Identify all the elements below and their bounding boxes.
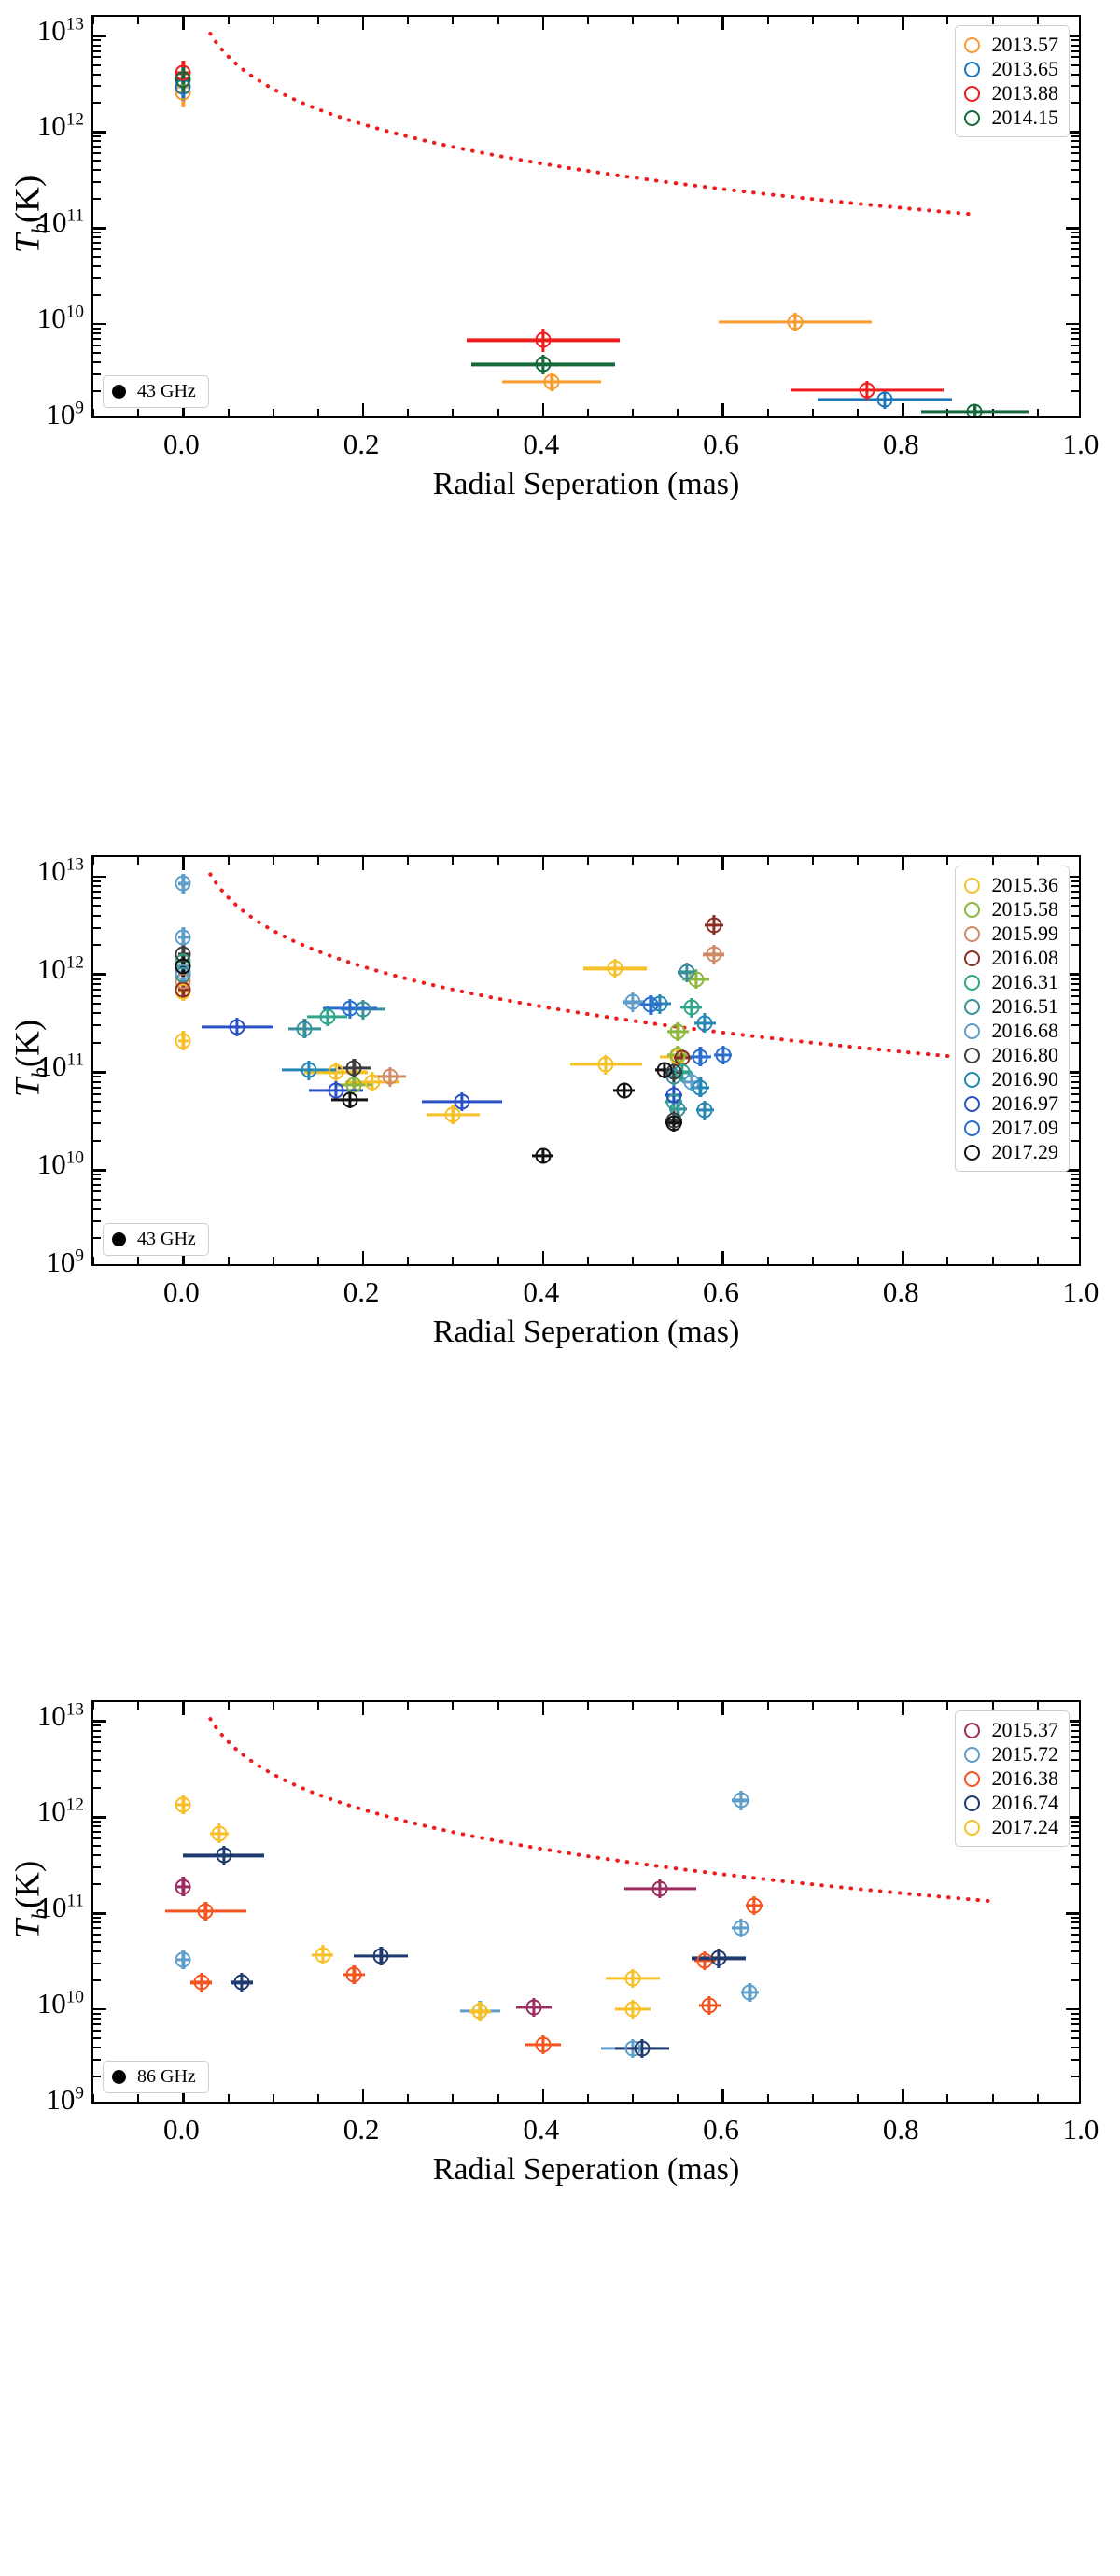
x-tick-label: 0.2	[315, 1275, 408, 1309]
x-minor-tick	[497, 409, 499, 416]
x-minor-tick	[946, 1702, 948, 1710]
x-minor-tick	[182, 17, 184, 24]
y-minor-tick	[1071, 181, 1079, 183]
legend-item[interactable]: 2016.90	[964, 1067, 1059, 1091]
y-minor-tick	[1071, 140, 1079, 142]
x-minor-tick	[992, 17, 994, 24]
y-minor-tick	[1071, 995, 1079, 997]
y-major-tick	[1066, 2008, 1079, 2011]
y-minor-tick	[93, 897, 101, 899]
y-minor-tick	[93, 978, 101, 980]
y-minor-tick	[93, 1140, 101, 1142]
y-minor-tick	[93, 332, 101, 334]
y-minor-tick	[1071, 2076, 1079, 2077]
y-minor-tick	[1071, 1024, 1079, 1026]
y-minor-tick	[93, 1917, 101, 1919]
x-minor-tick	[497, 1257, 499, 1264]
legend-item[interactable]: 2015.99	[964, 922, 1059, 946]
legend-item[interactable]: 2015.58	[964, 897, 1059, 922]
x-minor-tick	[632, 17, 634, 24]
legend-marker-icon	[964, 1072, 980, 1088]
data-point	[193, 1975, 209, 1991]
y-minor-tick	[93, 328, 101, 330]
x-minor-tick	[902, 1257, 903, 1264]
y-minor-tick	[1071, 1110, 1079, 1112]
y-major-tick	[93, 1720, 106, 1723]
y-minor-tick	[93, 1122, 101, 1124]
data-point	[356, 1002, 371, 1018]
y-axis-label: Tb(K)	[8, 121, 49, 308]
x-minor-tick	[857, 409, 859, 416]
data-point	[643, 997, 659, 1013]
data-point	[693, 1079, 708, 1095]
y-minor-tick	[1071, 897, 1079, 899]
data-point	[652, 1881, 668, 1897]
data-point	[967, 404, 983, 416]
y-minor-tick	[1071, 198, 1079, 200]
x-minor-tick	[767, 857, 769, 865]
legend-item[interactable]: 2015.72	[964, 1742, 1059, 1767]
y-tick-label: 109	[11, 398, 84, 431]
legend-label: 2013.65	[992, 57, 1059, 81]
fit-curve	[93, 1702, 1079, 2102]
y-minor-tick	[1071, 135, 1079, 137]
legend-label: 2015.58	[992, 897, 1059, 922]
y-minor-tick	[93, 1825, 101, 1827]
x-minor-tick	[722, 409, 724, 416]
data-point	[625, 1971, 641, 1987]
legend-marker-icon	[964, 1096, 980, 1112]
x-minor-tick	[677, 17, 679, 24]
y-minor-tick	[93, 1024, 101, 1026]
x-minor-tick	[362, 409, 364, 416]
x-minor-tick	[407, 1702, 409, 1710]
data-point	[859, 382, 875, 398]
x-minor-tick	[812, 17, 814, 24]
x-minor-tick	[452, 1702, 454, 1710]
x-minor-tick	[407, 1257, 409, 1264]
legend-item[interactable]: 2013.65	[964, 57, 1059, 81]
x-minor-tick	[273, 17, 274, 24]
x-minor-tick	[1037, 1257, 1039, 1264]
x-minor-tick	[228, 409, 230, 416]
y-minor-tick	[93, 232, 101, 233]
data-point	[175, 72, 191, 88]
x-minor-tick	[497, 17, 499, 24]
plot-frame: 2013.572013.652013.882014.1543 GHz	[91, 15, 1081, 418]
x-minor-tick	[182, 409, 184, 416]
y-minor-tick	[93, 891, 101, 893]
y-minor-tick	[1071, 50, 1079, 52]
y-minor-tick	[1071, 2059, 1079, 2061]
y-minor-tick	[93, 1837, 101, 1839]
y-minor-tick	[1071, 1837, 1079, 1839]
x-minor-tick	[542, 1257, 544, 1264]
y-minor-tick	[1071, 1759, 1079, 1761]
x-minor-tick	[362, 1702, 364, 1710]
legend-marker-icon	[964, 1723, 980, 1738]
x-minor-tick	[722, 2094, 724, 2102]
legend-label: 2017.09	[992, 1116, 1059, 1140]
y-minor-tick	[93, 1730, 101, 1732]
frequency-label: 43 GHz	[137, 381, 196, 402]
y-minor-tick	[93, 1081, 101, 1083]
legend-label: 2016.74	[992, 1791, 1059, 1815]
x-minor-tick	[452, 2094, 454, 2102]
y-minor-tick	[93, 2047, 101, 2048]
y-minor-tick	[1071, 1174, 1079, 1175]
y-minor-tick	[93, 160, 101, 162]
x-tick-label: 0.2	[315, 428, 408, 461]
y-minor-tick	[1071, 885, 1079, 887]
y-minor-tick	[1071, 236, 1079, 238]
legend-marker-icon	[964, 1795, 980, 1811]
legend-item[interactable]: 2016.38	[964, 1767, 1059, 1791]
legend-item[interactable]: 2016.08	[964, 946, 1059, 970]
y-minor-tick	[1071, 352, 1079, 354]
plot-area: 2015.372015.722016.382016.742017.2486 GH…	[93, 1702, 1079, 2102]
x-minor-tick	[228, 1257, 230, 1264]
y-minor-tick	[1071, 905, 1079, 907]
x-tick-label: 0.4	[495, 1275, 588, 1309]
y-minor-tick	[1071, 64, 1079, 66]
y-minor-tick	[93, 1220, 101, 1222]
legend: 2015.362015.582015.992016.082016.312016.…	[955, 866, 1071, 1172]
y-minor-tick	[1071, 1076, 1079, 1077]
x-minor-tick	[767, 1702, 769, 1710]
y-minor-tick	[1071, 1012, 1079, 1014]
panel-2: 2015.362015.582015.992016.082016.312016.…	[0, 840, 1120, 1685]
x-minor-tick	[587, 17, 589, 24]
y-minor-tick	[93, 1012, 101, 1014]
data-point	[230, 1020, 245, 1035]
x-minor-tick	[317, 1702, 319, 1710]
y-minor-tick	[93, 265, 101, 267]
y-minor-tick	[93, 1178, 101, 1180]
data-point	[877, 391, 893, 407]
data-point	[747, 1898, 763, 1914]
y-minor-tick	[1071, 1883, 1079, 1885]
data-point	[702, 1997, 718, 2013]
y-minor-tick	[1071, 1087, 1079, 1089]
x-minor-tick	[1037, 2094, 1039, 2102]
y-minor-tick	[1071, 2047, 1079, 2048]
y-minor-tick	[93, 1110, 101, 1112]
x-minor-tick	[902, 17, 903, 24]
y-minor-tick	[93, 1174, 101, 1175]
x-minor-tick	[587, 1257, 589, 1264]
frequency-badge: 86 GHz	[103, 2061, 209, 2093]
x-minor-tick	[902, 857, 903, 865]
x-minor-tick	[362, 857, 364, 865]
legend-item[interactable]: 2017.09	[964, 1116, 1059, 1140]
y-minor-tick	[93, 294, 101, 296]
data-point	[787, 314, 803, 330]
y-minor-tick	[93, 1979, 101, 1981]
x-minor-tick	[407, 857, 409, 865]
panel-3: 2015.372015.722016.382016.742017.2486 GH…	[0, 1685, 1120, 2526]
x-minor-tick	[1037, 1702, 1039, 1710]
y-minor-tick	[1071, 927, 1079, 929]
x-minor-tick	[182, 1702, 184, 1710]
data-point	[616, 1083, 632, 1099]
y-minor-tick	[1071, 74, 1079, 76]
data-point	[234, 1975, 250, 1991]
x-minor-tick	[317, 857, 319, 865]
legend-item[interactable]: 2013.88	[964, 81, 1059, 106]
legend-item[interactable]: 2014.15	[964, 106, 1059, 130]
y-tick-label: 1013	[11, 854, 84, 888]
legend-label: 2015.37	[992, 1718, 1059, 1742]
data-point	[455, 1094, 470, 1110]
y-tick-label: 1010	[11, 1147, 84, 1181]
y-minor-tick	[1071, 2037, 1079, 2039]
y-minor-tick	[93, 277, 101, 279]
y-minor-tick	[93, 2030, 101, 2032]
y-minor-tick	[1071, 1081, 1079, 1083]
y-minor-tick	[93, 1759, 101, 1761]
legend-label: 2016.80	[992, 1043, 1059, 1067]
y-minor-tick	[1071, 1787, 1079, 1789]
legend-marker-icon	[964, 86, 980, 102]
y-minor-tick	[1071, 256, 1079, 258]
y-minor-tick	[1071, 361, 1079, 363]
y-minor-tick	[1071, 1741, 1079, 1743]
x-minor-tick	[93, 2094, 94, 2102]
x-tick-label: 0.0	[134, 1275, 228, 1309]
x-minor-tick	[228, 857, 230, 865]
x-minor-tick	[767, 409, 769, 416]
y-minor-tick	[1071, 1042, 1079, 1044]
y-major-tick	[93, 1169, 106, 1172]
x-minor-tick	[767, 2094, 769, 2102]
y-minor-tick	[93, 45, 101, 47]
y-minor-tick	[1071, 1927, 1079, 1929]
legend-label: 2014.15	[992, 106, 1059, 130]
data-point	[693, 1049, 708, 1064]
y-minor-tick	[1071, 248, 1079, 250]
y-minor-tick	[1071, 978, 1079, 980]
legend-marker-icon	[964, 62, 980, 77]
legend-item[interactable]: 2013.57	[964, 33, 1059, 57]
y-minor-tick	[93, 2018, 101, 2020]
y-minor-tick	[93, 2037, 101, 2039]
y-minor-tick	[1071, 1831, 1079, 1833]
y-minor-tick	[93, 983, 101, 985]
x-minor-tick	[677, 857, 679, 865]
y-minor-tick	[1071, 1208, 1079, 1210]
data-point	[535, 357, 551, 373]
y-minor-tick	[93, 1076, 101, 1077]
legend-label: 2016.68	[992, 1019, 1059, 1043]
legend-label: 2015.99	[992, 922, 1059, 946]
data-point	[346, 1077, 362, 1092]
legend: 2015.372015.722016.382016.742017.24	[955, 1710, 1071, 1847]
x-minor-tick	[992, 2094, 994, 2102]
y-tick-label: 1013	[11, 1699, 84, 1733]
y-minor-tick	[1071, 1122, 1079, 1124]
data-point	[383, 1069, 399, 1085]
x-minor-tick	[632, 2094, 634, 2102]
legend-item[interactable]: 2015.36	[964, 873, 1059, 897]
x-minor-tick	[228, 1702, 230, 1710]
x-minor-tick	[587, 409, 589, 416]
y-minor-tick	[93, 1941, 101, 1943]
y-tick-label: 109	[11, 2083, 84, 2117]
x-minor-tick	[407, 409, 409, 416]
y-minor-tick	[1071, 1917, 1079, 1919]
data-point	[301, 1063, 317, 1078]
data-point	[346, 1966, 362, 1982]
x-minor-tick	[497, 1702, 499, 1710]
x-minor-tick	[632, 1257, 634, 1264]
data-point	[175, 1033, 191, 1049]
x-minor-tick	[946, 1257, 948, 1264]
y-minor-tick	[93, 373, 101, 375]
y-minor-tick	[93, 1921, 101, 1923]
legend-item[interactable]: 2017.24	[964, 1815, 1059, 1839]
y-minor-tick	[93, 152, 101, 154]
y-minor-tick	[1071, 1750, 1079, 1752]
fit-curve	[93, 17, 1079, 416]
legend-label: 2016.97	[992, 1091, 1059, 1116]
y-minor-tick	[93, 169, 101, 171]
y-minor-tick	[93, 1190, 101, 1192]
y-minor-tick	[93, 248, 101, 250]
data-point	[710, 1950, 726, 1966]
x-minor-tick	[182, 857, 184, 865]
x-axis-label: Radial Seperation (mas)	[91, 467, 1081, 502]
x-minor-tick	[273, 857, 274, 865]
data-point	[175, 929, 191, 945]
legend-item[interactable]: 2016.80	[964, 1043, 1059, 1067]
x-minor-tick	[137, 1702, 139, 1710]
y-minor-tick	[1071, 880, 1079, 882]
x-minor-tick	[317, 1257, 319, 1264]
y-minor-tick	[93, 1866, 101, 1868]
data-point	[297, 1021, 313, 1036]
x-minor-tick	[857, 1257, 859, 1264]
data-point	[598, 1057, 614, 1073]
x-minor-tick	[812, 1257, 814, 1264]
x-minor-tick	[182, 2094, 184, 2102]
y-minor-tick	[1071, 56, 1079, 58]
x-minor-tick	[542, 857, 544, 865]
legend-marker-icon	[964, 975, 980, 991]
y-minor-tick	[1071, 1736, 1079, 1738]
y-minor-tick	[1071, 1825, 1079, 1827]
y-minor-tick	[93, 944, 101, 946]
filled-circle-icon	[112, 2070, 126, 2084]
y-major-tick	[93, 2008, 106, 2011]
x-minor-tick	[677, 1257, 679, 1264]
y-minor-tick	[93, 995, 101, 997]
data-point	[175, 981, 191, 997]
y-minor-tick	[93, 56, 101, 58]
legend-label: 2016.51	[992, 994, 1059, 1019]
legend-item[interactable]: 2015.37	[964, 1718, 1059, 1742]
x-minor-tick	[946, 857, 948, 865]
y-tick-label: 1013	[11, 14, 84, 48]
data-point	[329, 1064, 344, 1080]
legend-marker-icon	[964, 37, 980, 53]
y-major-tick	[93, 973, 106, 976]
y-minor-tick	[93, 64, 101, 66]
y-minor-tick	[1071, 390, 1079, 392]
legend-item[interactable]: 2017.29	[964, 1140, 1059, 1164]
x-minor-tick	[857, 17, 859, 24]
data-point	[715, 1048, 731, 1063]
y-minor-tick	[93, 1736, 101, 1738]
x-minor-tick	[722, 857, 724, 865]
x-minor-tick	[273, 409, 274, 416]
x-axis-label: Radial Seperation (mas)	[91, 1315, 1081, 1350]
y-minor-tick	[93, 1003, 101, 1005]
x-minor-tick	[542, 17, 544, 24]
y-minor-tick	[93, 2013, 101, 2015]
fit-curve	[93, 857, 1079, 1264]
x-minor-tick	[857, 1702, 859, 1710]
y-major-tick	[93, 1816, 106, 1819]
legend-marker-icon	[964, 110, 980, 126]
y-minor-tick	[1071, 1845, 1079, 1847]
plot-frame: 2015.372015.722016.382016.742017.2486 GH…	[91, 1700, 1081, 2104]
legend-item[interactable]: 2016.51	[964, 994, 1059, 1019]
legend-label: 2017.29	[992, 1140, 1059, 1164]
legend-marker-icon	[964, 878, 980, 894]
legend-item[interactable]: 2016.31	[964, 970, 1059, 994]
x-minor-tick	[767, 1257, 769, 1264]
y-minor-tick	[1071, 1854, 1079, 1856]
y-minor-tick	[1071, 2013, 1079, 2015]
y-minor-tick	[1071, 891, 1079, 893]
y-minor-tick	[1071, 1178, 1079, 1180]
x-tick-label: 0.6	[675, 1275, 768, 1309]
y-major-tick	[93, 35, 106, 37]
data-point	[535, 332, 551, 348]
legend-item[interactable]: 2016.97	[964, 1091, 1059, 1116]
legend-item[interactable]: 2016.68	[964, 1019, 1059, 1043]
x-minor-tick	[93, 409, 94, 416]
y-minor-tick	[1071, 915, 1079, 917]
y-axis-label: Tb(K)	[8, 965, 49, 1152]
data-point	[472, 2004, 488, 2020]
y-minor-tick	[93, 880, 101, 882]
x-minor-tick	[1037, 857, 1039, 865]
x-minor-tick	[317, 409, 319, 416]
legend-item[interactable]: 2016.74	[964, 1791, 1059, 1815]
legend-marker-icon	[964, 902, 980, 918]
data-point	[607, 961, 623, 977]
legend-label: 2013.88	[992, 81, 1059, 106]
x-minor-tick	[182, 1257, 184, 1264]
x-minor-tick	[317, 2094, 319, 2102]
y-minor-tick	[93, 1724, 101, 1726]
y-minor-tick	[93, 885, 101, 887]
x-minor-tick	[362, 2094, 364, 2102]
y-minor-tick	[93, 1042, 101, 1044]
data-point	[625, 2002, 641, 2018]
y-minor-tick	[93, 352, 101, 354]
data-point	[544, 374, 560, 390]
x-minor-tick	[632, 1702, 634, 1710]
data-point	[665, 1088, 681, 1104]
legend-label: 2013.57	[992, 33, 1059, 57]
x-minor-tick	[902, 409, 903, 416]
x-tick-label: 0.0	[134, 2113, 228, 2147]
x-minor-tick	[812, 857, 814, 865]
data-point	[742, 1985, 758, 2001]
